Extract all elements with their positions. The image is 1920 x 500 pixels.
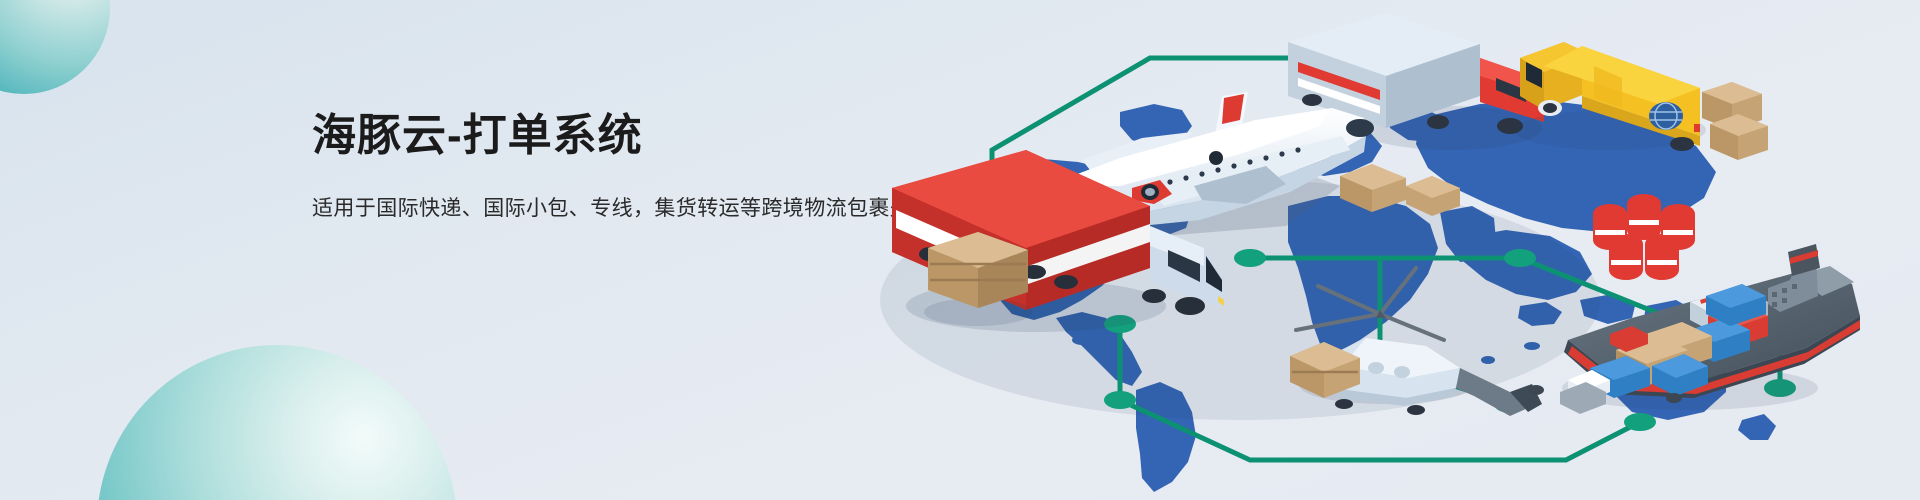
delivery-van xyxy=(1514,42,1706,151)
cargo-boxes-van xyxy=(1702,82,1768,160)
cargo-boxes-left xyxy=(924,232,1032,326)
oil-barrels xyxy=(1593,194,1695,280)
top-left-circle-decoration xyxy=(0,0,110,94)
logistics-illustration xyxy=(820,0,1920,500)
hero-banner: 海豚云-打单系统 适用于国际快递、国际小包、专线，集货转运等跨境物流包裹处理 xyxy=(0,0,1920,500)
bottom-left-circle-decoration xyxy=(97,345,457,500)
